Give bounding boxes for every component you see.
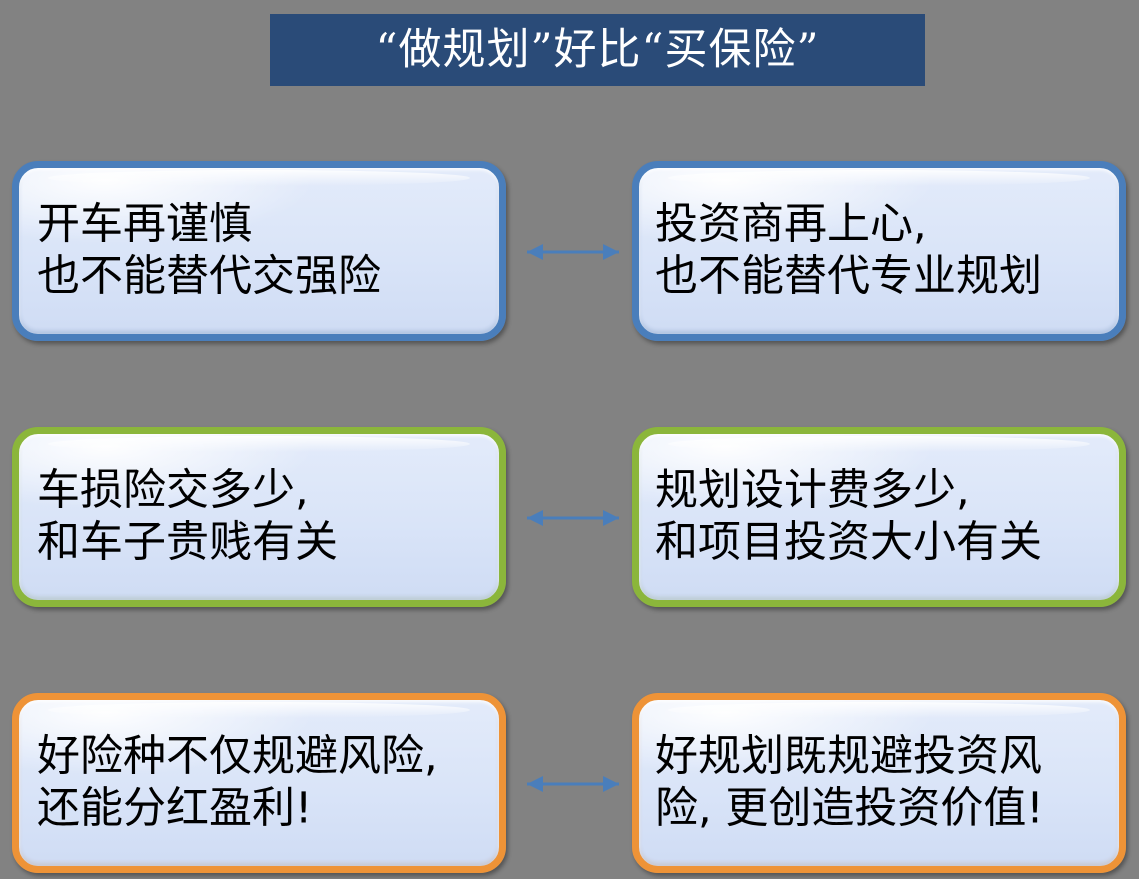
callout-box-car-damage-premium[interactable]: 车损险交多少, 和车子贵贱有关 bbox=[12, 427, 506, 607]
callout-box-good-insurance[interactable]: 好险种不仅规避风险, 还能分红盈利! bbox=[12, 693, 506, 873]
callout-text: 规划设计费多少, 和项目投资大小有关 bbox=[655, 465, 1113, 570]
callout-box-good-planning[interactable]: 好规划既规避投资风 险, 更创造投资价值! bbox=[632, 693, 1126, 873]
comparison-row: 车损险交多少, 和车子贵贱有关 规划设计费多少, 和项目投资大小有关 bbox=[0, 427, 1139, 609]
callout-box-investor-care[interactable]: 投资商再上心, 也不能替代专业规划 bbox=[632, 161, 1126, 341]
callout-box-driving-care[interactable]: 开车再谨慎 也不能替代交强险 bbox=[12, 161, 506, 341]
double-arrow-icon bbox=[513, 503, 633, 533]
comparison-diagram: 开车再谨慎 也不能替代交强险 投资商再上心, 也不能替代专业规划 车损险交多少,… bbox=[0, 0, 1139, 879]
double-arrow-icon bbox=[513, 237, 633, 267]
callout-text: 好险种不仅规避风险, 还能分红盈利! bbox=[37, 731, 493, 836]
comparison-row: 好险种不仅规避风险, 还能分红盈利! 好规划既规避投资风 险, 更创造投资价值! bbox=[0, 693, 1139, 875]
callout-text: 好规划既规避投资风 险, 更创造投资价值! bbox=[655, 731, 1113, 836]
callout-text: 投资商再上心, 也不能替代专业规划 bbox=[655, 199, 1113, 304]
callout-text: 车损险交多少, 和车子贵贱有关 bbox=[37, 465, 493, 570]
double-arrow-icon bbox=[513, 769, 633, 799]
callout-text: 开车再谨慎 也不能替代交强险 bbox=[37, 199, 493, 304]
comparison-row: 开车再谨慎 也不能替代交强险 投资商再上心, 也不能替代专业规划 bbox=[0, 161, 1139, 343]
callout-box-planning-fee[interactable]: 规划设计费多少, 和项目投资大小有关 bbox=[632, 427, 1126, 607]
